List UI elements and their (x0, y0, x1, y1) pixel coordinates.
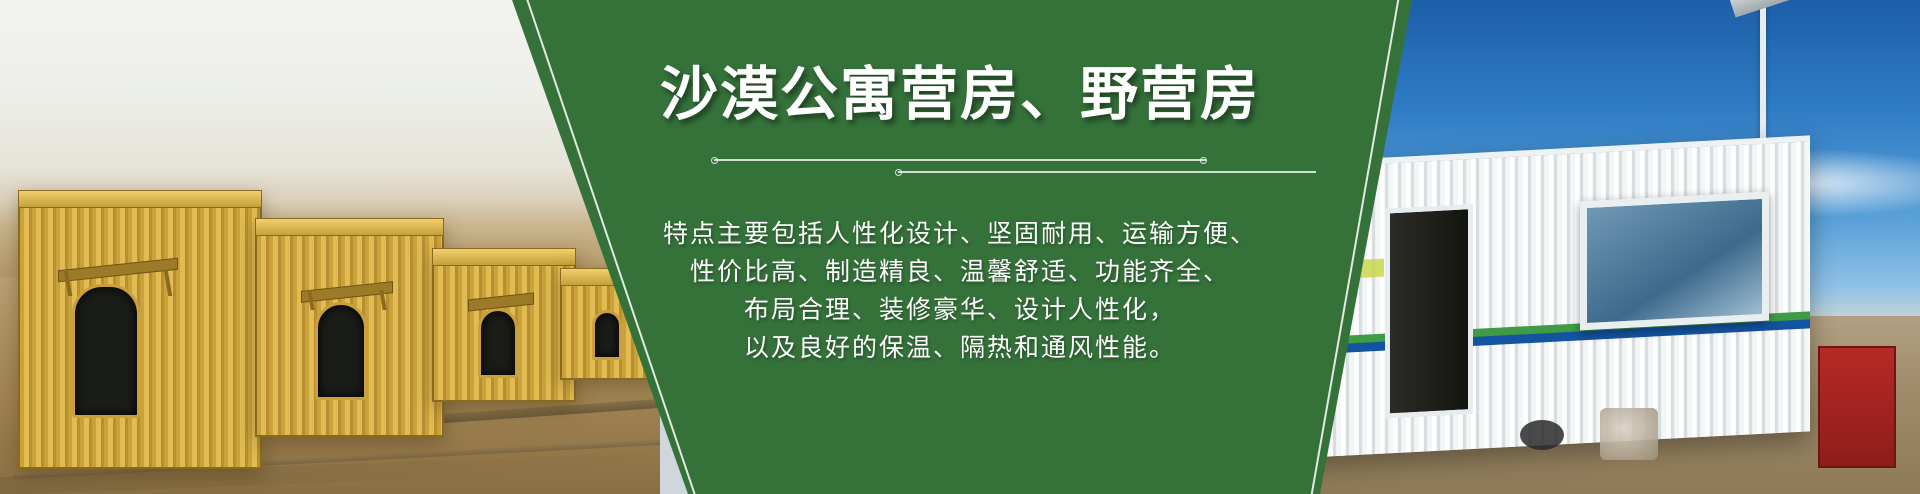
container-window (315, 302, 367, 400)
ground-debris (1600, 408, 1658, 460)
container-unit (432, 248, 576, 402)
cabin-window (1580, 191, 1769, 330)
divider-line-top (714, 159, 1206, 161)
container-unit (18, 190, 262, 469)
container-window (72, 284, 140, 418)
container-roof (19, 191, 261, 208)
divider-line-bottom (898, 171, 1316, 173)
tire (1520, 420, 1564, 450)
banner-title: 沙漠公寓营房、野营房 (660, 62, 1260, 129)
subtitle-line: 特点主要包括人性化设计、坚固耐用、运输方便、 (663, 215, 1257, 253)
container-roof (256, 219, 443, 236)
divider-dot-mid (895, 169, 902, 176)
subtitle-line: 以及良好的保温、隔热和通风性能。 (663, 329, 1257, 367)
banner-text-block: 沙漠公寓营房、野营房 特点主要包括人性化设计、坚固耐用、运输方便、 性价比高、制… (560, 0, 1360, 494)
subtitle-line: 布局合理、装修豪华、设计人性化， (663, 291, 1257, 329)
divider-dot-left (711, 157, 718, 164)
container-unit (255, 218, 444, 437)
awning-support (164, 270, 173, 296)
container-awning (58, 258, 178, 283)
banner-subtitle: 特点主要包括人性化设计、坚固耐用、运输方便、 性价比高、制造精良、温馨舒适、功能… (663, 215, 1257, 367)
container-roof (433, 249, 575, 266)
promotional-banner: 沙漠公寓营房、野营房 特点主要包括人性化设计、坚固耐用、运输方便、 性价比高、制… (0, 0, 1920, 494)
red-equipment-box (1818, 346, 1896, 468)
divider-dot-right (1200, 157, 1207, 164)
title-divider (714, 155, 1206, 181)
subtitle-line: 性价比高、制造精良、温馨舒适、功能齐全、 (663, 253, 1257, 291)
cabin-door (1385, 204, 1473, 419)
container-window (478, 308, 518, 378)
